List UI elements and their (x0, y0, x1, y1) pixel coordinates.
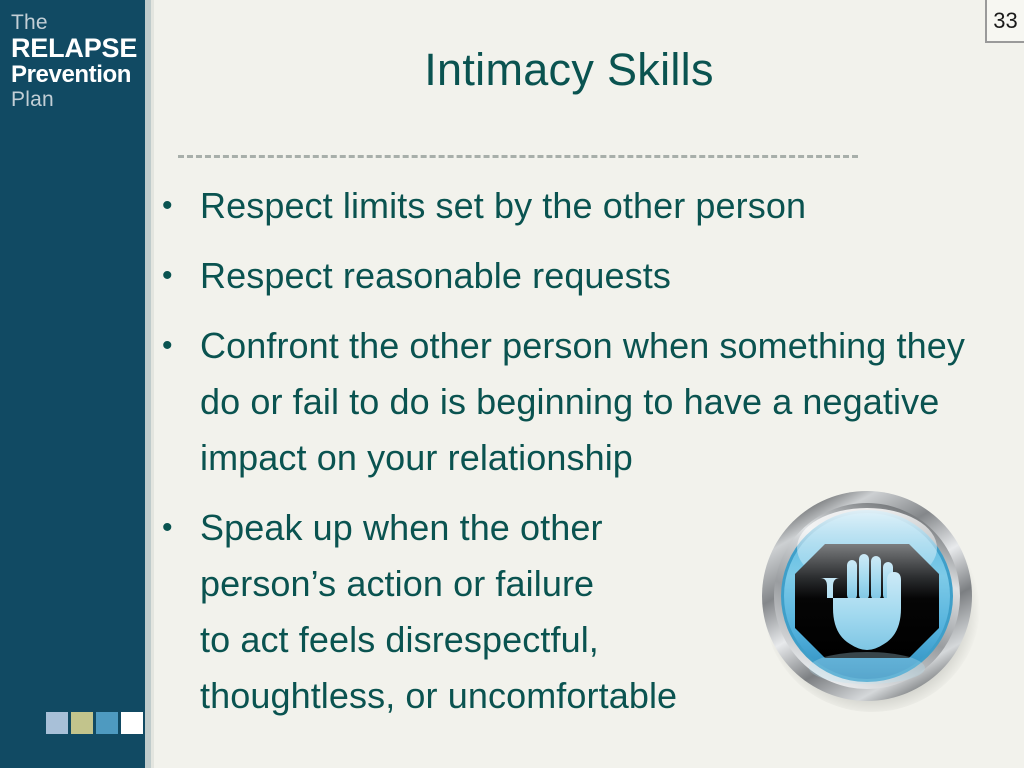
bullet-marker-icon: • (160, 318, 200, 374)
list-item: • Respect limits set by the other person (160, 178, 1005, 234)
bullet-line: impact on your relationship (200, 430, 1005, 486)
page-title: Intimacy Skills (154, 44, 984, 96)
bullet-line: Respect reasonable requests (200, 248, 1005, 304)
swatch-khaki (71, 712, 93, 734)
swatch-light-blue (46, 712, 68, 734)
swatch-white (121, 712, 143, 734)
list-item: • Respect reasonable requests (160, 248, 1005, 304)
sidebar (0, 0, 145, 768)
logo-line-prevention: Prevention (11, 63, 143, 87)
bullet-marker-icon: • (160, 248, 200, 304)
bullet-marker-icon: • (160, 500, 200, 556)
logo-swatch-row (46, 712, 143, 734)
brand-logo: The RELAPSE Prevention Plan (11, 12, 143, 110)
button-bottom-reflection (809, 652, 925, 684)
bullet-line: do or fail to do is beginning to have a … (200, 374, 1005, 430)
slide-canvas: The RELAPSE Prevention Plan 33 Intimacy … (0, 0, 1024, 768)
bullet-text: Respect limits set by the other person (200, 178, 1005, 234)
list-item: • Confront the other person when somethi… (160, 318, 1005, 486)
logo-line-relapse: RELAPSE (11, 35, 143, 62)
stop-hand-button-icon (752, 482, 984, 714)
bullet-line: Confront the other person when something… (200, 318, 1005, 374)
bullet-marker-icon: • (160, 178, 200, 234)
bullet-text: Respect reasonable requests (200, 248, 1005, 304)
bullet-text: Confront the other person when something… (200, 318, 1005, 486)
sidebar-edge-highlight (151, 0, 154, 768)
title-divider (178, 155, 858, 158)
page-number-badge: 33 (985, 0, 1024, 43)
swatch-blue (96, 712, 118, 734)
bullet-line: Respect limits set by the other person (200, 178, 1005, 234)
logo-line-the: The (11, 12, 143, 33)
logo-line-plan: Plan (11, 89, 143, 110)
